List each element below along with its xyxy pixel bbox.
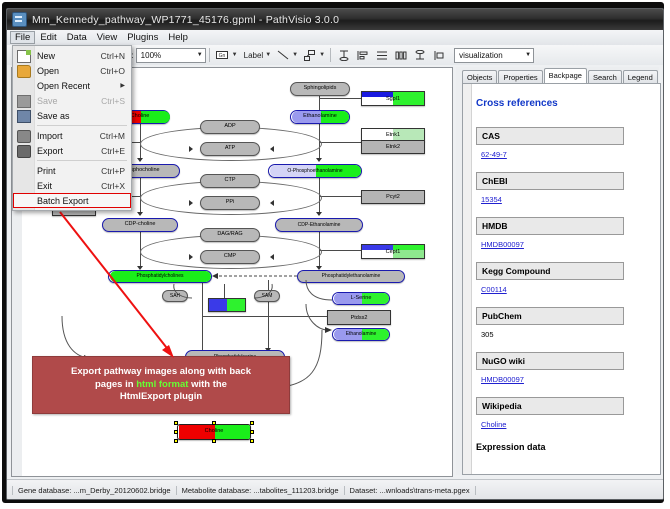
visualization-combo[interactable]: visualization ▼ bbox=[454, 48, 534, 63]
pathvisio-window: Mm_Kennedy_pathway_WP1771_45176.gpml - P… bbox=[6, 8, 664, 500]
arrow-ope-cdpe bbox=[316, 212, 322, 216]
arrow-to-atp-left bbox=[189, 146, 193, 152]
backpage-scrollbar[interactable] bbox=[463, 84, 472, 474]
file-menu-item-save: Save Ctrl+S bbox=[13, 93, 131, 108]
stack-icon[interactable] bbox=[411, 47, 428, 64]
group-icon[interactable] bbox=[430, 47, 447, 64]
xref-value-hmdb[interactable]: HMDB00097 bbox=[481, 240, 658, 249]
file-menu-item-exit[interactable]: Exit Ctrl+X bbox=[13, 178, 131, 193]
save-disk-icon bbox=[17, 95, 31, 108]
selection-handle-nw[interactable] bbox=[174, 421, 178, 425]
edge-sam-box bbox=[224, 284, 225, 298]
node-label: DAG/RAG bbox=[217, 232, 242, 238]
node-o-phosphoethanolamine[interactable]: O-Phosphoethanolamine bbox=[268, 164, 362, 178]
node-phosphatidylethanolamine[interactable]: Phosphatidylethanolamine bbox=[297, 270, 405, 283]
node-label: CDP-choline bbox=[125, 222, 156, 228]
node-label: Choline bbox=[205, 429, 224, 435]
xref-value-chebi[interactable]: 15354 bbox=[481, 195, 658, 204]
node-label: Pcyt2 bbox=[362, 191, 424, 203]
save-as-icon bbox=[17, 110, 31, 123]
node-cmp[interactable]: CMP bbox=[200, 250, 260, 264]
file-menu-item-print[interactable]: Print Ctrl+P bbox=[13, 163, 131, 178]
pathvisio-icon bbox=[12, 12, 27, 27]
status-bar: Gene database: ...m_Derby_20120602.bridg… bbox=[7, 479, 663, 500]
xref-source-kegg: Kegg Compound bbox=[476, 262, 624, 280]
xref-link-wikipedia[interactable]: Choline bbox=[481, 420, 506, 429]
menu-bar: File Edit Data View Plugins Help bbox=[7, 30, 664, 46]
expression-data-title: Expression data bbox=[476, 442, 658, 452]
node-etnk1[interactable]: Etnk1 bbox=[361, 128, 425, 142]
xref-value-cas[interactable]: 62-49-7 bbox=[481, 150, 658, 159]
file-menu-label-save: Save bbox=[37, 96, 93, 106]
open-folder-icon bbox=[17, 65, 31, 78]
xref-source-nugo: NuGO wiki bbox=[476, 352, 624, 370]
arrow-eth-ope bbox=[316, 158, 322, 162]
edge-ps-pe-up bbox=[202, 280, 203, 350]
node-dagrag[interactable]: DAG/RAG bbox=[200, 228, 260, 242]
node-label: Ethanolamine bbox=[346, 332, 377, 337]
svg-text:Gn: Gn bbox=[219, 53, 226, 59]
file-menu-label-new: New bbox=[37, 51, 93, 61]
node-choline-selected[interactable]: Choline bbox=[177, 424, 251, 440]
arrow-to-cmp-right bbox=[270, 254, 274, 260]
toolbar-separator-2 bbox=[330, 48, 331, 62]
tab-legend[interactable]: Legend bbox=[623, 70, 658, 84]
edge-pcyt2-link bbox=[319, 196, 361, 197]
node-label: SAM bbox=[262, 294, 273, 299]
selection-handle-s[interactable] bbox=[212, 439, 216, 443]
selection-handle-ne[interactable] bbox=[250, 421, 254, 425]
menu-file[interactable]: File bbox=[10, 31, 35, 44]
file-menu-accel-export: Ctrl+E bbox=[101, 146, 125, 156]
xref-source-hmdb: HMDB bbox=[476, 217, 624, 235]
arrow-to-cmp-left bbox=[189, 254, 193, 260]
node-l-serine[interactable]: L-Serine bbox=[332, 292, 390, 305]
file-menu-label-open: Open bbox=[37, 66, 92, 76]
backpage-content: Cross references CAS 62-49-7 ChEBI 15354… bbox=[462, 83, 661, 475]
toolbar-separator bbox=[209, 48, 210, 62]
selection-handle-n[interactable] bbox=[212, 421, 216, 425]
node-cept1[interactable]: Cept1 bbox=[361, 244, 425, 259]
file-menu-separator-2 bbox=[37, 160, 127, 161]
shape-icon[interactable] bbox=[301, 47, 318, 64]
file-menu-accel-save: Ctrl+S bbox=[101, 96, 125, 106]
xref-link-nugo[interactable]: HMDB00097 bbox=[481, 375, 524, 384]
shape-dropdown-icon[interactable]: ▼ bbox=[319, 52, 325, 58]
side-panel: Objects Properties Backpage Search Legen… bbox=[456, 67, 659, 475]
node-label: CDP-Ethanolamine bbox=[298, 223, 341, 228]
node-ctp[interactable]: CTP bbox=[200, 174, 260, 188]
zoom-value: 100% bbox=[141, 51, 161, 60]
title-bar: Mm_Kennedy_pathway_WP1771_45176.gpml - P… bbox=[7, 9, 663, 30]
status-gene-database: Gene database: ...m_Derby_20120602.bridg… bbox=[12, 486, 177, 495]
file-menu-label-save-as: Save as bbox=[37, 111, 117, 121]
tab-objects[interactable]: Objects bbox=[462, 70, 497, 84]
file-menu-label-print: Print bbox=[37, 166, 93, 176]
datanode-icon[interactable]: Gn bbox=[214, 47, 231, 64]
xref-value-pubchem: 305 bbox=[481, 330, 658, 339]
arrow-choline-phosphocholine bbox=[137, 158, 143, 162]
align-left-icon[interactable] bbox=[354, 47, 371, 64]
label-dropdown-icon[interactable]: ▼ bbox=[265, 52, 271, 58]
callout-line3: HtmlExport plugin bbox=[120, 391, 202, 402]
file-menu-accel-import: Ctrl+M bbox=[100, 131, 125, 141]
file-menu-accel-new: Ctrl+N bbox=[101, 51, 125, 61]
edge-cept1-link bbox=[319, 250, 361, 251]
tab-backpage[interactable]: Backpage bbox=[544, 68, 587, 84]
callout-line2-a: pages in bbox=[95, 379, 136, 390]
label-tool-label[interactable]: Label bbox=[244, 51, 264, 60]
tab-properties[interactable]: Properties bbox=[498, 70, 542, 84]
node-ethanolamine-2[interactable]: Ethanolamine bbox=[332, 328, 390, 341]
xref-source-pubchem: PubChem bbox=[476, 307, 624, 325]
zoom-combo[interactable]: 100% ▼ bbox=[136, 48, 206, 63]
node-label: PPi bbox=[226, 200, 235, 206]
node-label: Phosphatidylcholines bbox=[137, 274, 184, 279]
xref-link-chebi[interactable]: 15354 bbox=[481, 195, 502, 204]
annotation-callout: Export pathway images along with back pa… bbox=[32, 356, 290, 414]
node-etnk2[interactable]: Etnk2 bbox=[361, 140, 425, 154]
menu-help[interactable]: Help bbox=[163, 31, 193, 44]
xref-value-kegg[interactable]: C00114 bbox=[481, 285, 658, 294]
align-top-icon[interactable] bbox=[335, 47, 352, 64]
window-title: Mm_Kennedy_pathway_WP1771_45176.gpml - P… bbox=[32, 14, 339, 26]
file-menu-item-import[interactable]: Import Ctrl+M bbox=[13, 128, 131, 143]
node-label: ATP bbox=[225, 146, 235, 152]
node-label: Cept1 bbox=[362, 245, 424, 258]
menu-data[interactable]: Data bbox=[62, 31, 92, 44]
xref-source-wikipedia: Wikipedia bbox=[476, 397, 624, 415]
xref-source-chebi: ChEBI bbox=[476, 172, 624, 190]
node-label: Sgpl1 bbox=[362, 92, 424, 105]
visualization-value: visualization bbox=[459, 51, 503, 60]
new-document-icon bbox=[17, 50, 31, 63]
selection-handle-se[interactable] bbox=[250, 439, 254, 443]
node-ppi[interactable]: PPi bbox=[200, 196, 260, 210]
edge-etnk-link bbox=[319, 142, 361, 143]
node-label: CTP bbox=[225, 178, 236, 184]
chevron-down-icon-2: ▼ bbox=[525, 52, 531, 58]
pemt-expr-left bbox=[209, 299, 227, 311]
node-label: Etnk1 bbox=[362, 129, 424, 141]
datanode-dropdown-icon[interactable]: ▼ bbox=[232, 52, 238, 58]
file-menu-accel-open: Ctrl+O bbox=[100, 66, 125, 76]
edge-ptdss2-link bbox=[202, 316, 327, 317]
arrow-to-ppi-left bbox=[189, 200, 193, 206]
xref-link-kegg[interactable]: C00114 bbox=[481, 285, 507, 294]
edge-sgpl1-link bbox=[319, 98, 361, 99]
pemt-expr-right bbox=[227, 299, 245, 311]
arrow-to-atp-right bbox=[270, 146, 274, 152]
node-phosphatidylcholines[interactable]: Phosphatidylcholines bbox=[108, 270, 212, 283]
file-menu-separator-1 bbox=[37, 125, 127, 126]
menu-plugins[interactable]: Plugins bbox=[122, 31, 163, 44]
node-pcyt2[interactable]: Pcyt2 bbox=[361, 190, 425, 204]
xref-link-cas[interactable]: 62-49-7 bbox=[481, 150, 507, 159]
node-sphingolipids[interactable]: Sphingolipids bbox=[290, 82, 350, 96]
menu-view[interactable]: View bbox=[92, 31, 122, 44]
file-menu-item-open[interactable]: Open Ctrl+O bbox=[13, 63, 131, 78]
import-icon bbox=[17, 130, 31, 143]
file-menu-label-import: Import bbox=[37, 131, 92, 141]
node-label: O-Phosphoethanolamine bbox=[287, 169, 342, 174]
node-label: ADP bbox=[224, 124, 235, 130]
xref-value-wikipedia[interactable]: Choline bbox=[481, 420, 658, 429]
file-menu-item-open-recent[interactable]: Open Recent ▶ bbox=[13, 78, 131, 93]
node-cdp-ethanolamine[interactable]: CDP-Ethanolamine bbox=[275, 218, 363, 232]
status-metabolite-database: Metabolite database: ...tabolites_111203… bbox=[177, 486, 345, 495]
node-atp[interactable]: ATP bbox=[200, 142, 260, 156]
node-adp[interactable]: ADP bbox=[200, 120, 260, 134]
file-menu-item-batch-export[interactable]: Batch Export bbox=[13, 193, 131, 208]
node-sam[interactable]: SAM bbox=[254, 290, 280, 302]
node-label: Sphingolipids bbox=[304, 86, 337, 92]
xref-link-hmdb[interactable]: HMDB00097 bbox=[481, 240, 524, 249]
align-center-icon[interactable] bbox=[373, 47, 390, 64]
node-label: Ethanolamine bbox=[303, 114, 337, 120]
chevron-down-icon: ▼ bbox=[197, 52, 203, 58]
node-label: Choline bbox=[131, 114, 150, 120]
align-width-icon[interactable] bbox=[392, 47, 409, 64]
file-menu-label-batch-export: Batch Export bbox=[37, 196, 125, 206]
node-sgpl1[interactable]: Sgpl1 bbox=[361, 91, 425, 106]
xref-value-nugo[interactable]: HMDB00097 bbox=[481, 375, 658, 384]
node-label: Etnk2 bbox=[362, 141, 424, 153]
file-menu-item-save-as[interactable]: Save as bbox=[13, 108, 131, 123]
file-menu-label-exit: Exit bbox=[37, 181, 93, 191]
selection-handle-w[interactable] bbox=[174, 430, 178, 434]
selection-handle-e[interactable] bbox=[250, 430, 254, 434]
node-label: Phosphatidylethanolamine bbox=[322, 274, 381, 279]
arrow-pc-cdpc bbox=[137, 212, 143, 216]
file-menu-item-export[interactable]: Export Ctrl+E bbox=[13, 143, 131, 158]
callout-line1: Export pathway images along with back bbox=[71, 366, 251, 377]
node-gene-pemt[interactable] bbox=[208, 298, 246, 312]
file-menu-label-export: Export bbox=[37, 146, 93, 156]
file-menu-dropdown[interactable]: New Ctrl+N Open Ctrl+O Open Recent ▶ Sav… bbox=[12, 45, 132, 211]
file-menu-accel-print: Ctrl+P bbox=[101, 166, 125, 176]
node-label: Ptdss2 bbox=[328, 311, 390, 324]
tab-search[interactable]: Search bbox=[588, 70, 622, 84]
line-icon[interactable] bbox=[274, 47, 291, 64]
file-menu-item-new[interactable]: New Ctrl+N bbox=[13, 48, 131, 63]
side-panel-tabs: Objects Properties Backpage Search Legen… bbox=[462, 70, 659, 84]
node-label: L-Serine bbox=[351, 296, 372, 302]
callout-highlight: html format bbox=[136, 379, 188, 390]
menu-edit[interactable]: Edit bbox=[35, 31, 61, 44]
node-cdp-choline[interactable]: CDP-choline bbox=[102, 218, 178, 232]
xref-source-cas: CAS bbox=[476, 127, 624, 145]
line-dropdown-icon[interactable]: ▼ bbox=[292, 52, 298, 58]
file-menu-label-open-recent: Open Recent bbox=[37, 81, 120, 91]
screenshot-frame: Mm_Kennedy_pathway_WP1771_45176.gpml - P… bbox=[0, 0, 670, 509]
status-dataset: Dataset: ...wnloads\trans-meta.pgex bbox=[345, 486, 476, 495]
node-sah[interactable]: SAH bbox=[162, 290, 188, 302]
node-label: CMP bbox=[224, 254, 236, 260]
arrow-to-ppi-right bbox=[270, 200, 274, 206]
export-icon bbox=[17, 145, 31, 158]
cross-references-title: Cross references bbox=[476, 98, 658, 109]
file-menu-accel-exit: Ctrl+X bbox=[101, 181, 125, 191]
node-ethanolamine[interactable]: Ethanolamine bbox=[290, 110, 350, 124]
node-ptdss2[interactable]: Ptdss2 bbox=[327, 310, 391, 325]
callout-line2-b: with the bbox=[188, 379, 227, 390]
selection-handle-sw[interactable] bbox=[174, 439, 178, 443]
submenu-chevron-icon: ▶ bbox=[120, 82, 125, 89]
node-label: SAH bbox=[170, 294, 180, 299]
